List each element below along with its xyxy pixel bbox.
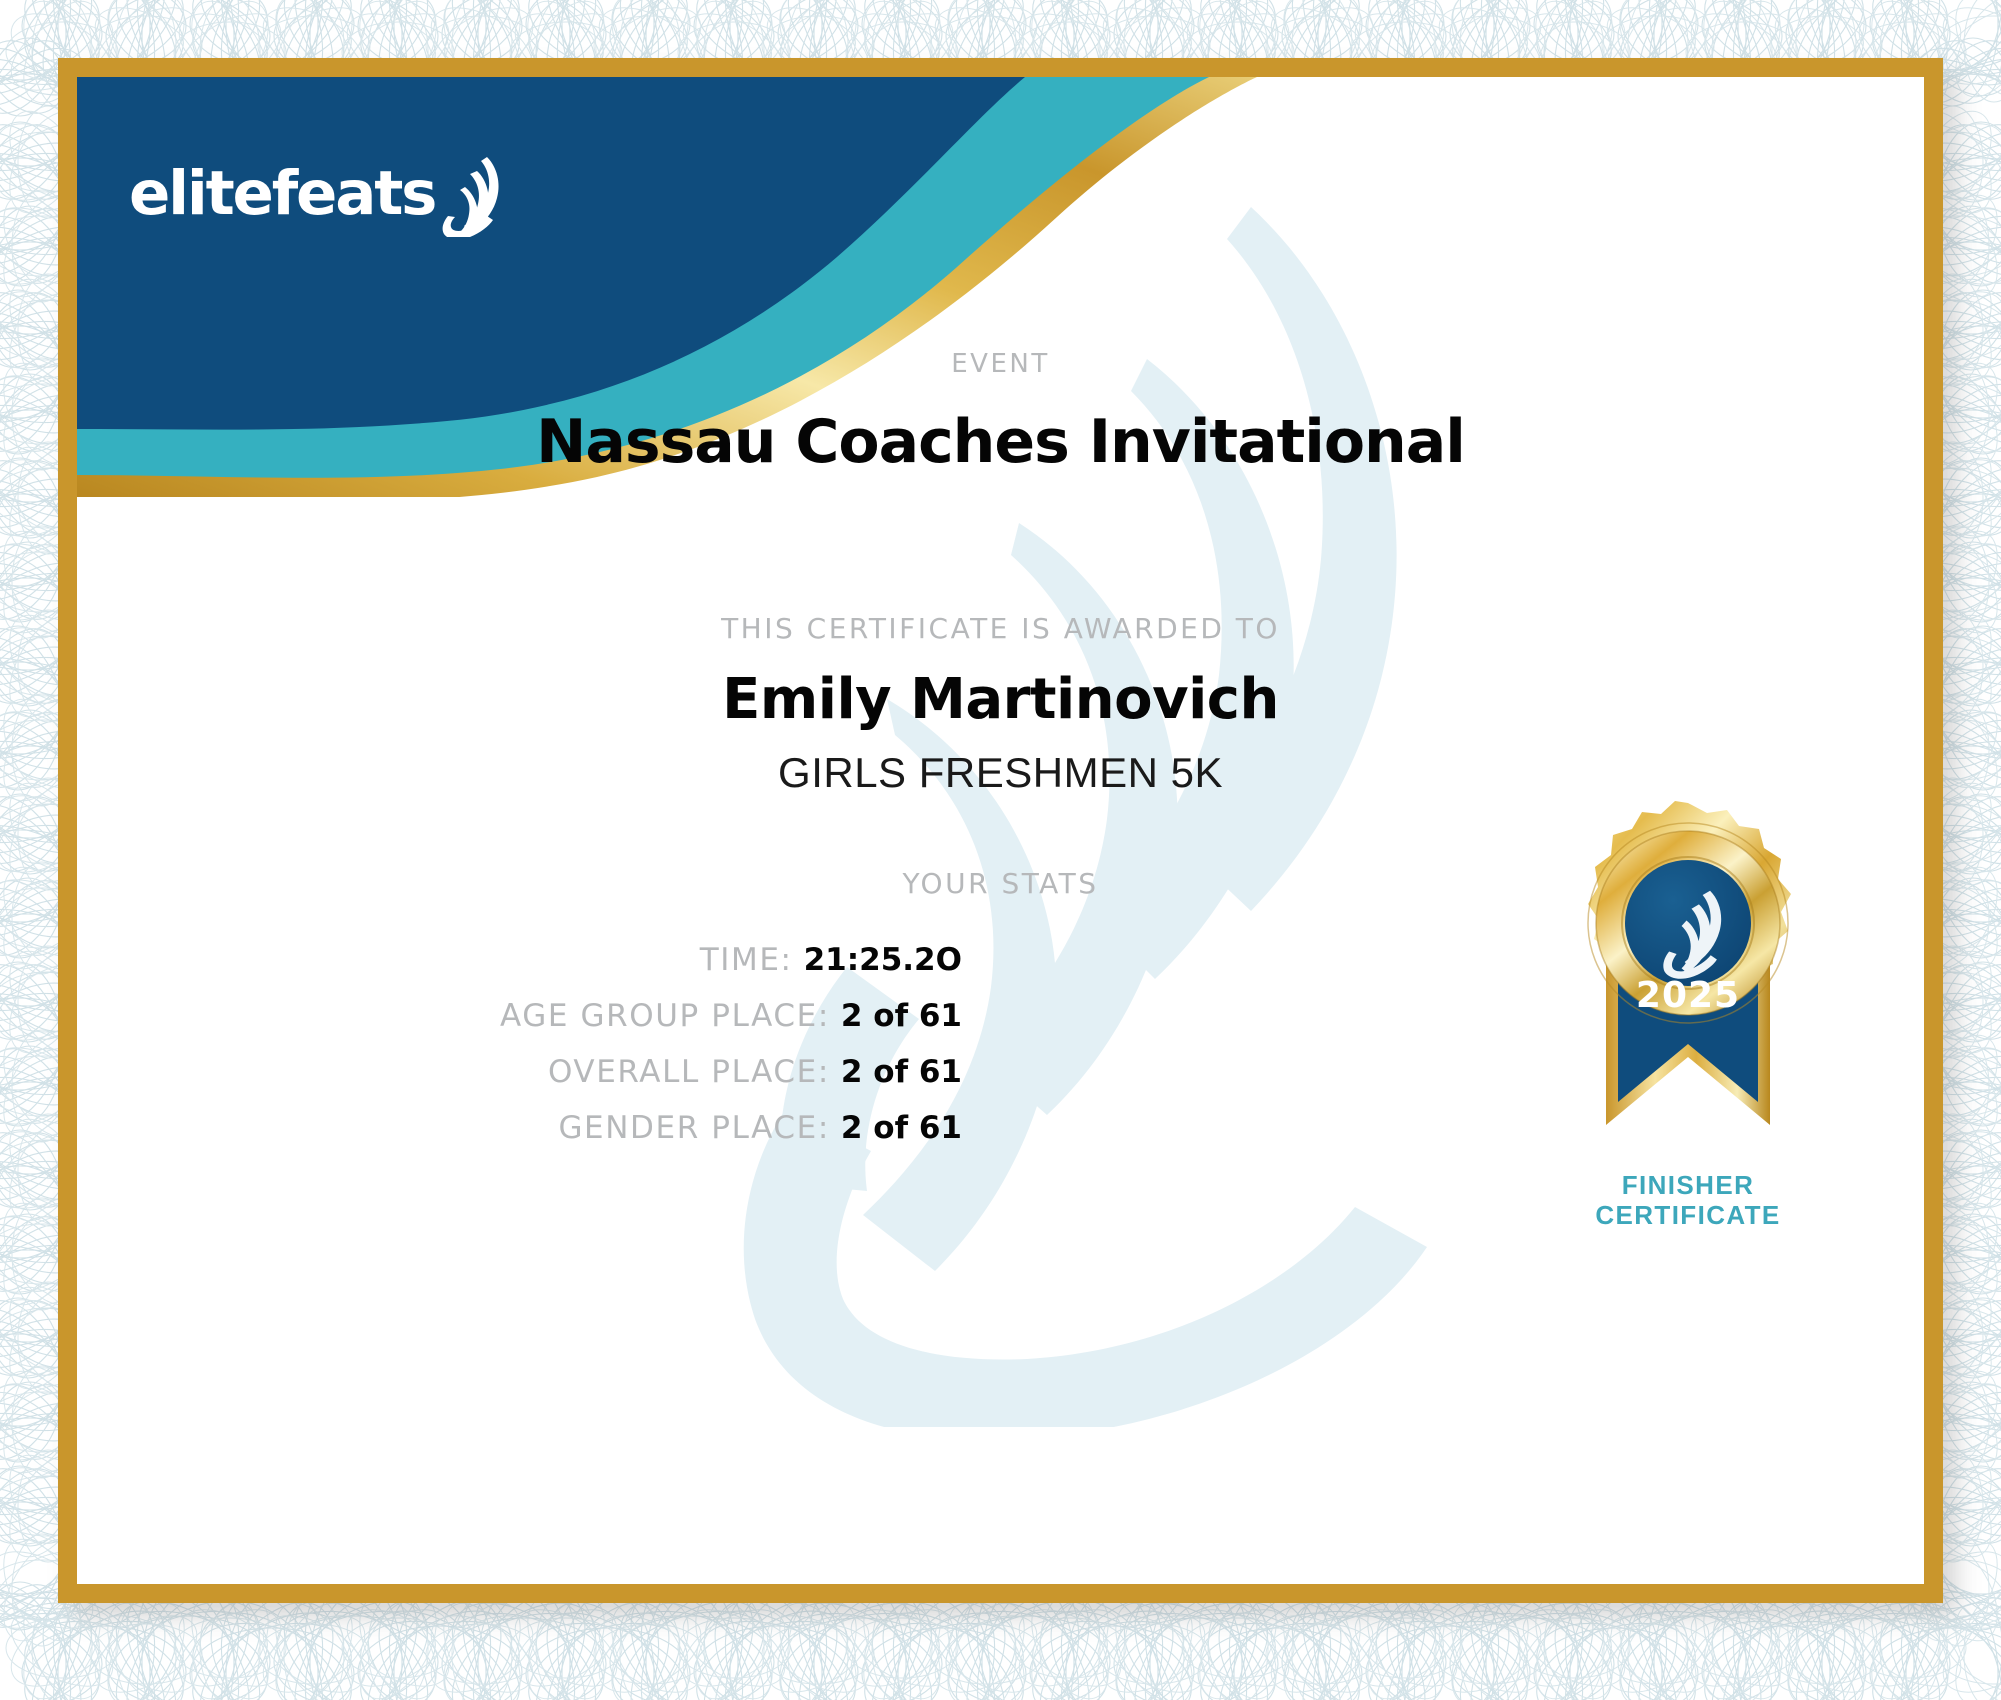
stat-row: OVERALL PLACE: 2 of 61 <box>77 1054 962 1090</box>
stat-key-age-group-place: AGE GROUP PLACE: <box>500 998 830 1034</box>
medal-rosette-icon: 2025 <box>1538 795 1838 1175</box>
certificate-page: elitefeats EVENT Nassau Coaches Invitati… <box>0 0 2001 1700</box>
stat-key-time: TIME: <box>700 942 793 978</box>
seal-caption-line2: CERTIFICATE <box>1538 1201 1838 1231</box>
awarded-to-label: THIS CERTIFICATE IS AWARDED TO <box>77 612 1924 645</box>
event-label: EVENT <box>77 349 1924 379</box>
stat-row: GENDER PLACE: 2 of 61 <box>77 1110 962 1146</box>
seal-year: 2025 <box>1636 975 1740 1016</box>
recipient-division: GIRLS FRESHMEN 5K <box>77 749 1924 797</box>
stat-value-overall-place: 2 of 61 <box>841 1054 962 1090</box>
stat-row: TIME: 21:25.2O <box>77 942 962 978</box>
stats-list: TIME: 21:25.2O AGE GROUP PLACE: 2 of 61 … <box>77 942 962 1166</box>
stat-value-age-group-place: 2 of 61 <box>841 998 962 1034</box>
certificate-card: elitefeats EVENT Nassau Coaches Invitati… <box>58 58 1943 1603</box>
seal-caption: FINISHER CERTIFICATE <box>1538 1171 1838 1230</box>
stat-key-gender-place: GENDER PLACE: <box>558 1110 829 1146</box>
stat-row: AGE GROUP PLACE: 2 of 61 <box>77 998 962 1034</box>
seal-caption-line1: FINISHER <box>1538 1171 1838 1201</box>
stat-value-time: 21:25.2O <box>804 942 962 978</box>
certificate-inner: elitefeats EVENT Nassau Coaches Invitati… <box>77 77 1924 1584</box>
recipient-name: Emily Martinovich <box>77 667 1924 732</box>
finisher-seal: 2025 FINISHER CERTIFICATE <box>1538 795 1838 1235</box>
stat-key-overall-place: OVERALL PLACE: <box>548 1054 830 1090</box>
stat-value-gender-place: 2 of 61 <box>841 1110 962 1146</box>
event-name: Nassau Coaches Invitational <box>77 407 1924 477</box>
